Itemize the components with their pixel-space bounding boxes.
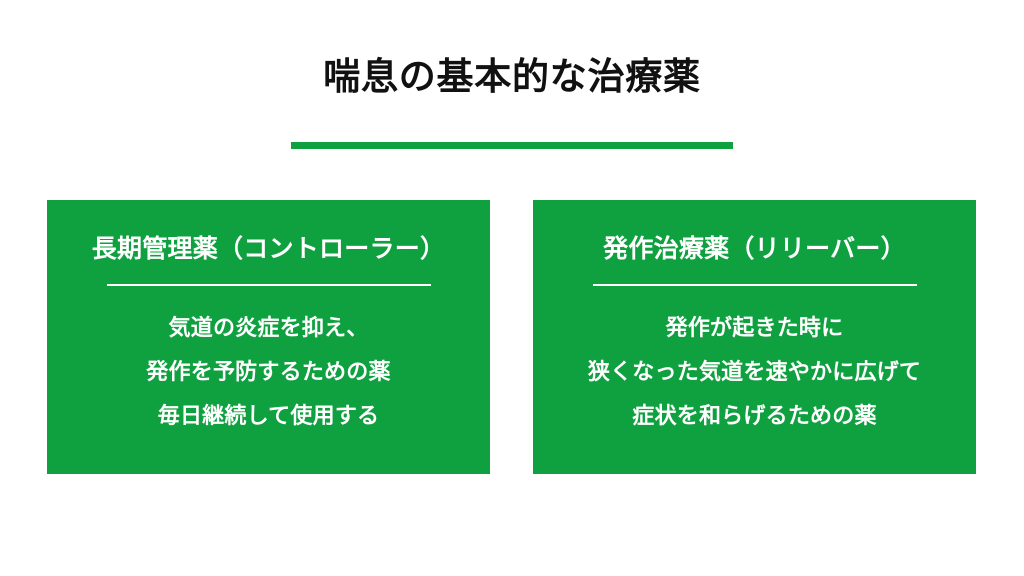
card-divider bbox=[593, 284, 917, 286]
card-body: 発作が起きた時に 狭くなった気道を速やかに広げて 症状を和らげるための薬 bbox=[547, 306, 962, 438]
card-body-line: 発作を予防するための薬 bbox=[61, 350, 476, 394]
card-body-line: 気道の炎症を抑え、 bbox=[61, 306, 476, 350]
card-divider bbox=[107, 284, 431, 286]
title-block: 喘息の基本的な治療薬 bbox=[0, 56, 1024, 99]
card-body-line: 狭くなった気道を速やかに広げて bbox=[547, 350, 962, 394]
title-accent-rule bbox=[291, 142, 733, 149]
card-controller[interactable]: 長期管理薬（コントローラー） 気道の炎症を抑え、 発作を予防するための薬 毎日継… bbox=[47, 200, 490, 474]
card-group: 長期管理薬（コントローラー） 気道の炎症を抑え、 発作を予防するための薬 毎日継… bbox=[0, 200, 1024, 474]
page-title: 喘息の基本的な治療薬 bbox=[0, 56, 1024, 99]
card-reliever[interactable]: 発作治療薬（リリーバー） 発作が起きた時に 狭くなった気道を速やかに広げて 症状… bbox=[533, 200, 976, 474]
card-body-line: 毎日継続して使用する bbox=[61, 394, 476, 438]
card-body-line: 症状を和らげるための薬 bbox=[547, 394, 962, 438]
slide-canvas: 喘息の基本的な治療薬 長期管理薬（コントローラー） 気道の炎症を抑え、 発作を予… bbox=[0, 0, 1024, 576]
card-heading: 長期管理薬（コントローラー） bbox=[61, 234, 476, 264]
card-body: 気道の炎症を抑え、 発作を予防するための薬 毎日継続して使用する bbox=[61, 306, 476, 438]
card-heading: 発作治療薬（リリーバー） bbox=[547, 234, 962, 264]
card-body-line: 発作が起きた時に bbox=[547, 306, 962, 350]
